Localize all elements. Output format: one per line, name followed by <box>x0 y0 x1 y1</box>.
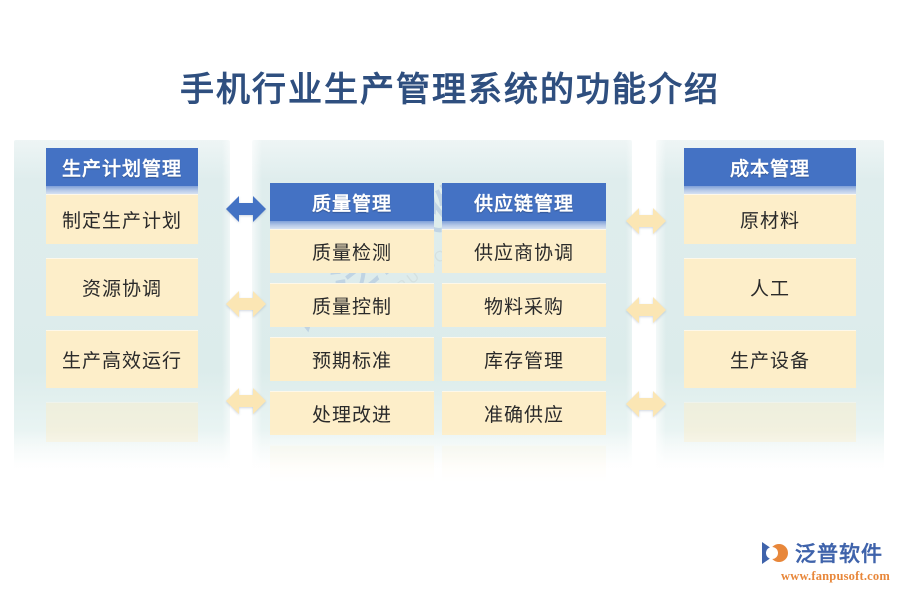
arrow-left-2[interactable] <box>226 287 266 321</box>
double-arrow-horizontal-icon <box>626 387 666 421</box>
spacer <box>684 244 856 258</box>
item-quality-1[interactable]: 质量控制 <box>270 283 434 327</box>
arrow-right-3[interactable] <box>626 387 666 421</box>
item-cost-2[interactable]: 生产设备 <box>684 330 856 388</box>
item-quality-overflow <box>270 445 434 481</box>
page-title: 手机行业生产管理系统的功能介绍 <box>0 62 900 111</box>
column-header-quality[interactable]: 质量管理 <box>270 183 434 221</box>
spacer <box>270 435 434 445</box>
spacer <box>270 273 434 283</box>
spacer <box>46 244 198 258</box>
double-arrow-horizontal-icon <box>626 204 666 238</box>
item-supply-chain-1[interactable]: 物料采购 <box>442 283 606 327</box>
spacer <box>270 381 434 391</box>
arrow-right-2[interactable] <box>626 293 666 327</box>
item-supply-chain-2[interactable]: 库存管理 <box>442 337 606 381</box>
column-quality: 质量管理 质量检测 质量控制 预期标准 处理改进 <box>270 183 434 481</box>
spacer <box>46 388 198 402</box>
item-supply-chain-3[interactable]: 准确供应 <box>442 391 606 435</box>
column-header-supply-chain[interactable]: 供应链管理 <box>442 183 606 221</box>
item-quality-0[interactable]: 质量检测 <box>270 229 434 273</box>
double-arrow-horizontal-icon <box>226 192 266 226</box>
spacer <box>684 316 856 330</box>
column-header-production-plan[interactable]: 生产计划管理 <box>46 148 198 186</box>
column-cost: 成本管理 原材料 人工 生产设备 <box>684 148 856 442</box>
spacer <box>442 327 606 337</box>
item-production-plan-0[interactable]: 制定生产计划 <box>46 194 198 244</box>
spacer <box>442 435 606 445</box>
item-quality-2[interactable]: 预期标准 <box>270 337 434 381</box>
item-cost-overflow <box>684 402 856 442</box>
double-arrow-horizontal-icon <box>626 293 666 327</box>
spacer <box>46 316 198 330</box>
item-supply-chain-0[interactable]: 供应商协调 <box>442 229 606 273</box>
column-supply-chain: 供应链管理 供应商协调 物料采购 库存管理 准确供应 <box>442 183 606 481</box>
spacer <box>442 381 606 391</box>
spacer <box>684 388 856 402</box>
column-production-plan: 生产计划管理 制定生产计划 资源协调 生产高效运行 <box>46 148 198 442</box>
arrow-right-1[interactable] <box>626 204 666 238</box>
double-arrow-horizontal-icon <box>226 384 266 418</box>
brand-logo-icon <box>762 540 792 566</box>
item-production-plan-overflow <box>46 402 198 442</box>
arrow-left-3[interactable] <box>226 384 266 418</box>
brand-logo-name: 泛普软件 <box>795 538 883 568</box>
item-supply-chain-overflow <box>442 445 606 481</box>
brand-logo-url: www.fanpusoft.com <box>762 569 890 584</box>
spacer <box>442 273 606 283</box>
brand-logo: 泛普软件 www.fanpusoft.com <box>762 538 890 586</box>
item-production-plan-2[interactable]: 生产高效运行 <box>46 330 198 388</box>
slide-canvas: 手机行业生产管理系统的功能介绍 泛普软件 FANPU SOFTWARE 生产计划… <box>0 0 900 600</box>
item-production-plan-1[interactable]: 资源协调 <box>46 258 198 316</box>
item-cost-0[interactable]: 原材料 <box>684 194 856 244</box>
arrow-left-1[interactable] <box>226 192 266 226</box>
column-header-cost[interactable]: 成本管理 <box>684 148 856 186</box>
item-quality-3[interactable]: 处理改进 <box>270 391 434 435</box>
spacer <box>270 327 434 337</box>
item-cost-1[interactable]: 人工 <box>684 258 856 316</box>
double-arrow-horizontal-icon <box>226 287 266 321</box>
